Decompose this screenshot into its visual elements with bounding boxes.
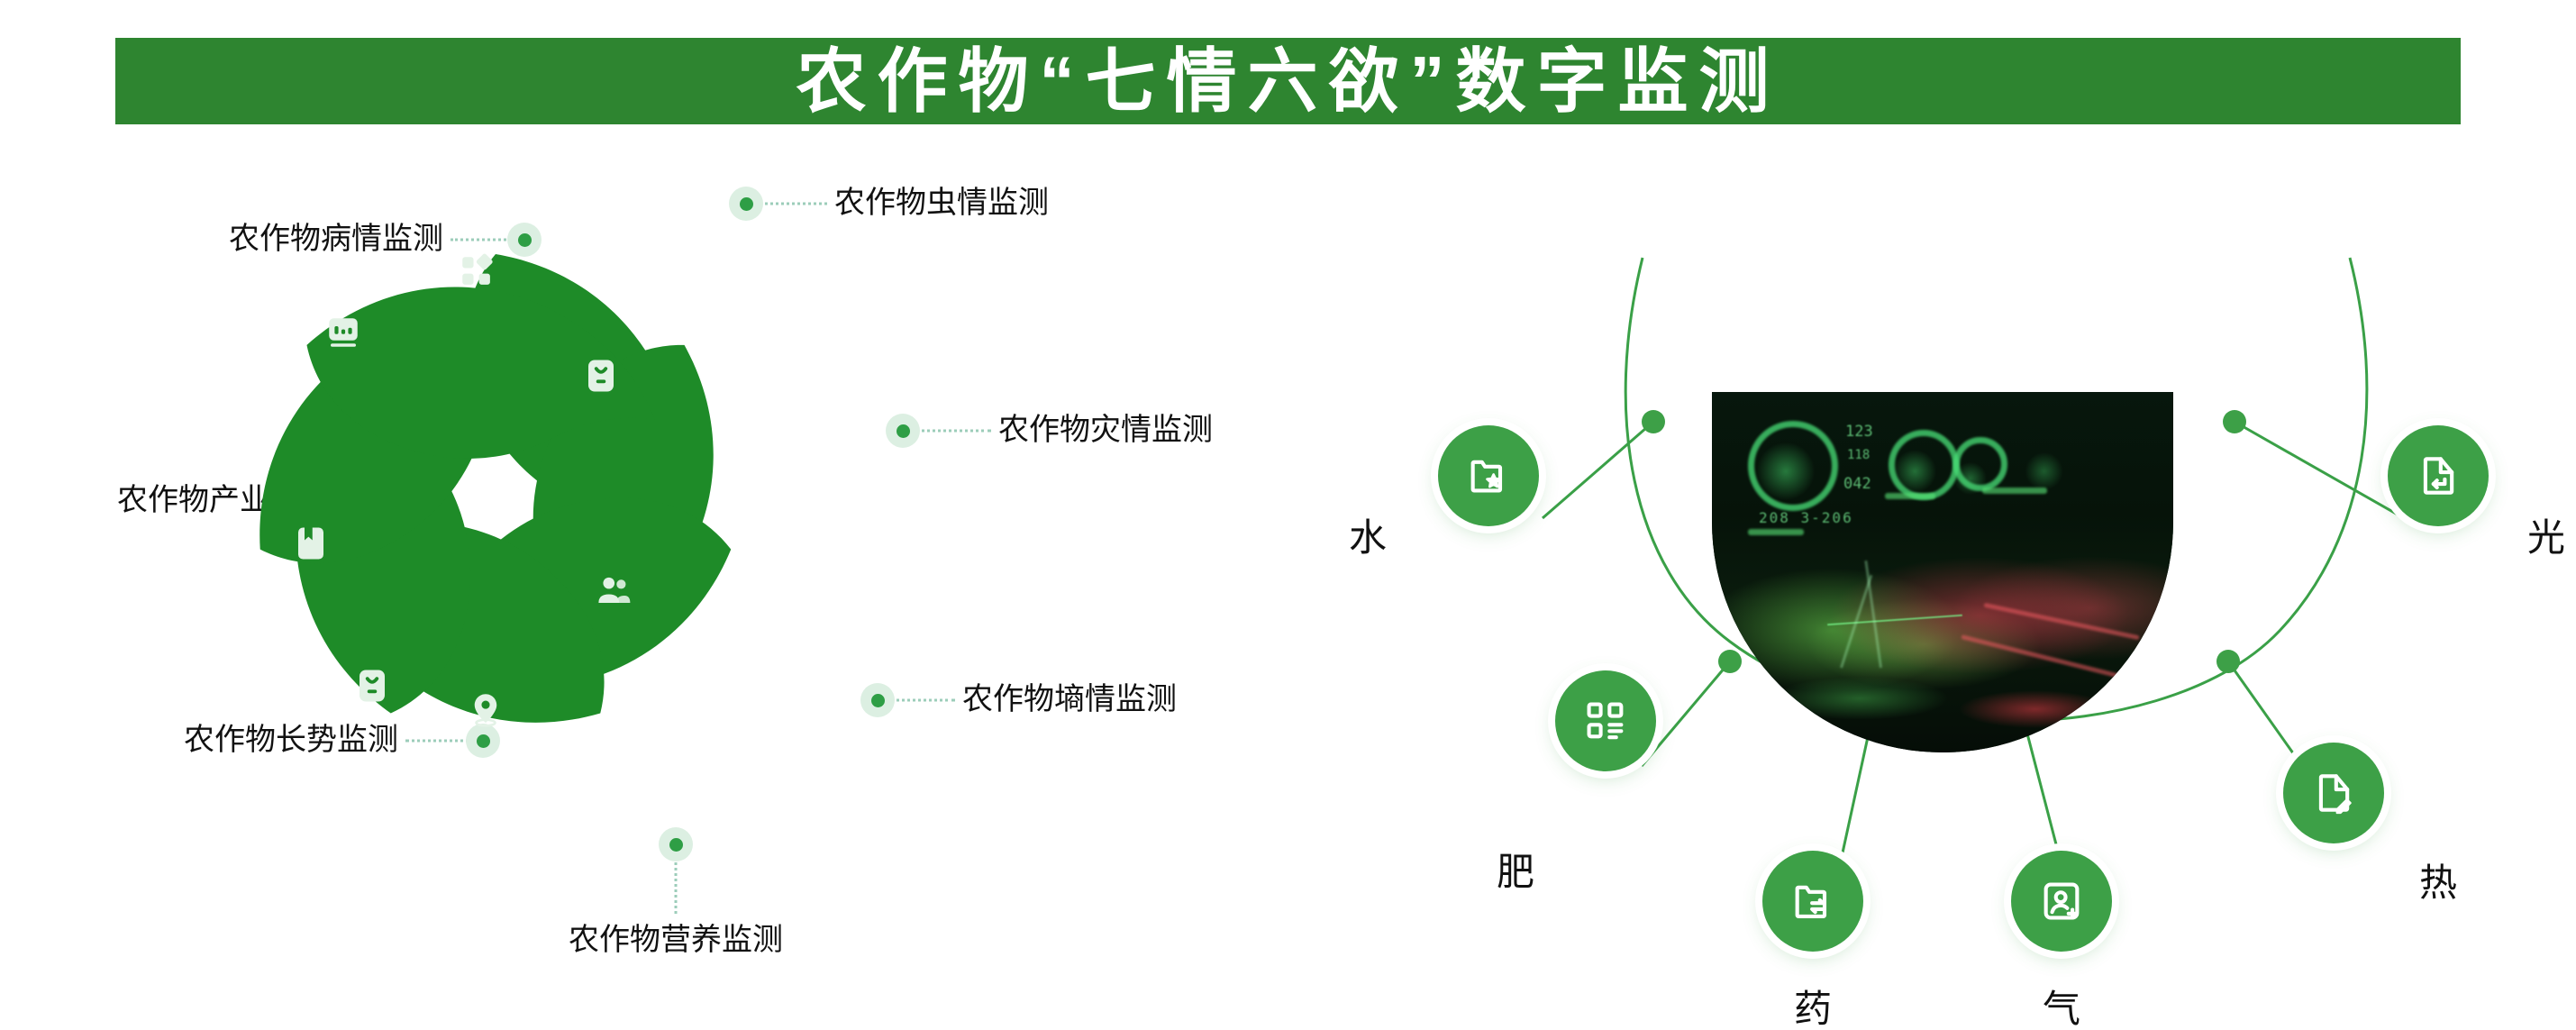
element-label-qi: 气: [2043, 990, 2080, 1028]
element-button-guang[interactable]: [2388, 425, 2489, 526]
element-button-yao[interactable]: [1762, 851, 1863, 952]
element-label-re: 热: [2419, 864, 2457, 902]
title-banner: 农作物“七情六欲”数字监测: [115, 38, 2461, 124]
arc-dot-guang[interactable]: [2223, 410, 2246, 433]
element-button-qi[interactable]: [2011, 851, 2112, 952]
gauge-ring-3: [1953, 437, 2007, 491]
gauge-reading-2: 118: [1847, 448, 1870, 462]
pinwheel-graphic: [216, 180, 775, 811]
folder-star-icon: [1465, 452, 1512, 499]
element-label-guang: 光: [2527, 519, 2565, 557]
folder-transfer-icon: [1789, 878, 1836, 925]
gauge-ring-2: [1889, 430, 1959, 500]
pinwheel-label-shang: 农作物墒情监测: [962, 684, 1177, 715]
element-label-shui: 水: [1349, 519, 1387, 557]
node-yingyang[interactable]: [659, 827, 693, 861]
leader-line-zai: [910, 430, 991, 433]
element-button-fei[interactable]: [1555, 670, 1656, 771]
node-shang[interactable]: [860, 683, 895, 717]
gauge-bar-3: [1982, 488, 2047, 494]
dashboard-image: 123 118 042 208 3-206: [1712, 392, 2173, 752]
pinwheel-label-yingyang: 农作物营养监测: [569, 925, 783, 955]
user-add-photo-icon: [2038, 878, 2085, 925]
gauge-ring-1: [1748, 421, 1838, 511]
element-button-shui[interactable]: [1438, 425, 1539, 526]
gauge-reading-4: 208 3-206: [1759, 509, 1853, 526]
gauge-reading-1: 123: [1845, 423, 1873, 441]
element-label-yao: 药: [1794, 990, 1832, 1028]
file-import-icon: [2415, 452, 2462, 499]
pinwheel-label-zai: 农作物灾情监测: [998, 415, 1213, 445]
gauge-reading-3: 042: [1843, 475, 1871, 493]
page-title: 农作物“七情六欲”数字监测: [796, 46, 1780, 116]
gauge-bar-2: [1885, 493, 1935, 499]
arc-dot-re[interactable]: [2216, 650, 2240, 673]
qr-blocks-icon: [1582, 697, 1629, 744]
element-button-re[interactable]: [2283, 743, 2384, 843]
file-edit-icon: [2310, 770, 2357, 816]
arc-dot-shui[interactable]: [1642, 410, 1665, 433]
element-label-fei: 肥: [1497, 853, 1534, 891]
pinwheel-label-chong: 农作物虫情监测: [834, 187, 1049, 218]
leader-line-shang: [885, 699, 955, 702]
gauge-bar-1: [1748, 529, 1804, 535]
pinwheel-diagram: 农作物虫情监测 农作物灾情监测 农作物墒情监测 农作物营养监测 农作物长势监测 …: [0, 144, 1306, 999]
node-zai[interactable]: [886, 414, 920, 448]
element-network-diagram: 123 118 042 208 3-206 水 肥 药 气 热 光: [1306, 144, 2576, 999]
